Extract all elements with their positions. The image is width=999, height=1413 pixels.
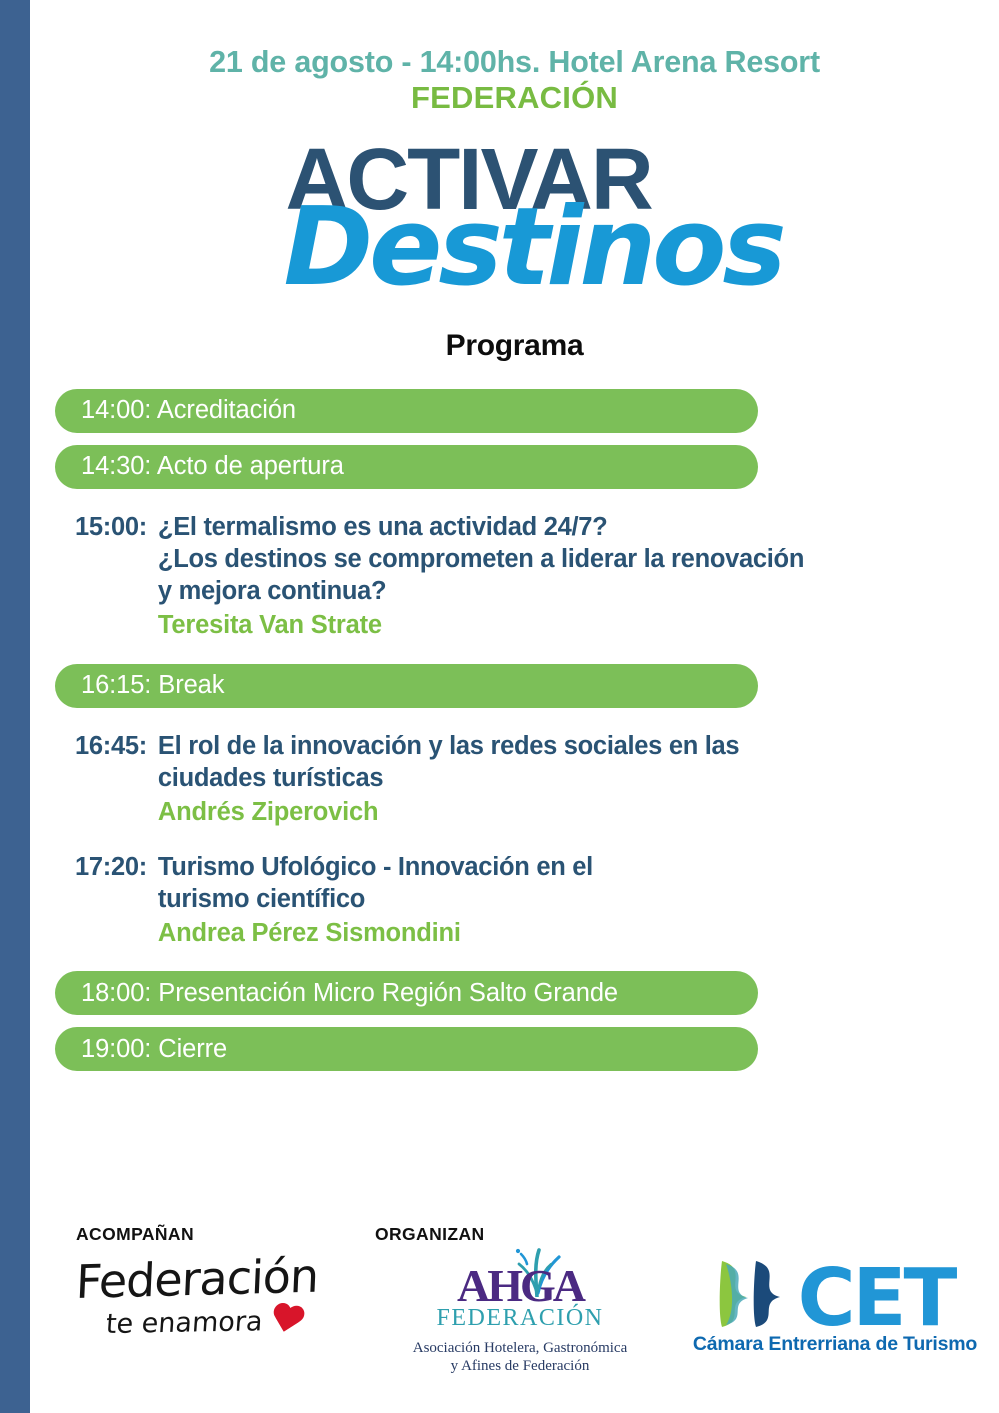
schedule-pill-label: 14:30: Acto de apertura [81,452,344,481]
activar-destinos-logo: ACTIVAR Destinos [280,136,750,331]
session-body: ¿El termalismo es una actividad 24/7? ¿L… [158,511,804,642]
federacion-te-enamora-logo: Federación te enamora [76,1259,326,1359]
session-time: 16:45: [75,730,147,829]
schedule-list: 14:00: Acreditación 14:30: Acto de apert… [30,389,974,1072]
session-title-line: turismo científico [158,883,593,915]
schedule-pill-label: 18:00: Presentación Micro Región Salto G… [81,979,618,1008]
ahga-description-line: Asociación Hotelera, Gastronómica [395,1339,645,1357]
ahga-acronym: AHGA [395,1263,645,1309]
event-datetime-venue: 21 de agosto - 14:00hs. Hotel Arena Reso… [30,46,999,79]
session-speaker: Teresita Van Strate [158,609,804,642]
session-title-line: El rol de la innovación y las redes soci… [158,730,739,762]
schedule-pill: 18:00: Presentación Micro Región Salto G… [55,971,758,1015]
acompanan-label: ACOMPAÑAN [76,1224,346,1245]
session-time: 15:00: [75,511,147,642]
session-body: Turismo Ufológico - Innovación en el tur… [158,851,593,950]
cet-logo: CET [690,1255,980,1331]
federacion-logo-tagline-row: te enamora [105,1307,327,1338]
session-title-line: Turismo Ufológico - Innovación en el [158,851,593,883]
event-city: FEDERACIÓN [30,79,999,118]
organizan-label: ORGANIZAN [375,1224,655,1245]
poster-header: 21 de agosto - 14:00hs. Hotel Arena Reso… [30,0,999,118]
session-title-line: ¿El termalismo es una actividad 24/7? [158,511,804,543]
session-speaker: Andrea Pérez Sismondini [158,917,593,950]
session-title-line: y mejora continua? [158,575,804,607]
cet-acronym: CET [798,1266,955,1331]
session-title-line: ¿Los destinos se comprometen a liderar l… [158,543,804,575]
ahga-federacion-logo: AHGA FEDERACIÓN Asociación Hotelera, Gas… [395,1263,645,1375]
poster-content: 21 de agosto - 14:00hs. Hotel Arena Reso… [30,0,999,1413]
schedule-pill: 14:00: Acreditación [55,389,758,433]
organizers-group: ORGANIZAN AHGA FEDERACIÓN Asociación Hot… [375,1224,655,1375]
left-accent-stripe [0,0,30,1413]
schedule-session: 16:45: El rol de la innovación y las red… [55,730,974,829]
schedule-pill-label: 14:00: Acreditación [81,396,296,425]
session-speaker: Andrés Ziperovich [158,796,739,829]
schedule-session: 15:00: ¿El termalismo es una actividad 2… [55,511,974,642]
schedule-pill-label: 16:15: Break [81,671,224,700]
federacion-logo-word: Federación [75,1252,327,1305]
sponsors-acompanan-group: ACOMPAÑAN Federación te enamora [76,1224,346,1359]
ahga-description-line: y Afines de Federación [395,1357,645,1375]
poster-footer: ACOMPAÑAN Federación te enamora ORGANIZA… [30,1213,999,1413]
cet-logo-group: CET Cámara Entrerriana de Turismo [690,1255,980,1356]
session-time: 17:20: [75,851,147,950]
schedule-pill-label: 19:00: Cierre [81,1035,227,1064]
double-s-wave-icon [716,1255,802,1331]
heart-icon [266,1301,307,1337]
schedule-pill: 16:15: Break [55,664,758,708]
logo-word-destinos: Destinos [284,194,783,302]
programa-heading: Programa [30,329,999,363]
schedule-pill: 19:00: Cierre [55,1027,758,1071]
poster-canvas: 21 de agosto - 14:00hs. Hotel Arena Reso… [0,0,999,1413]
schedule-pill: 14:30: Acto de apertura [55,445,758,489]
ahga-description: Asociación Hotelera, Gastronómica y Afin… [395,1339,645,1375]
session-title-line: ciudades turísticas [158,762,739,794]
session-body: El rol de la innovación y las redes soci… [158,730,739,829]
federacion-logo-tagline: te enamora [105,1308,263,1338]
schedule-session: 17:20: Turismo Ufológico - Innovación en… [55,851,974,950]
